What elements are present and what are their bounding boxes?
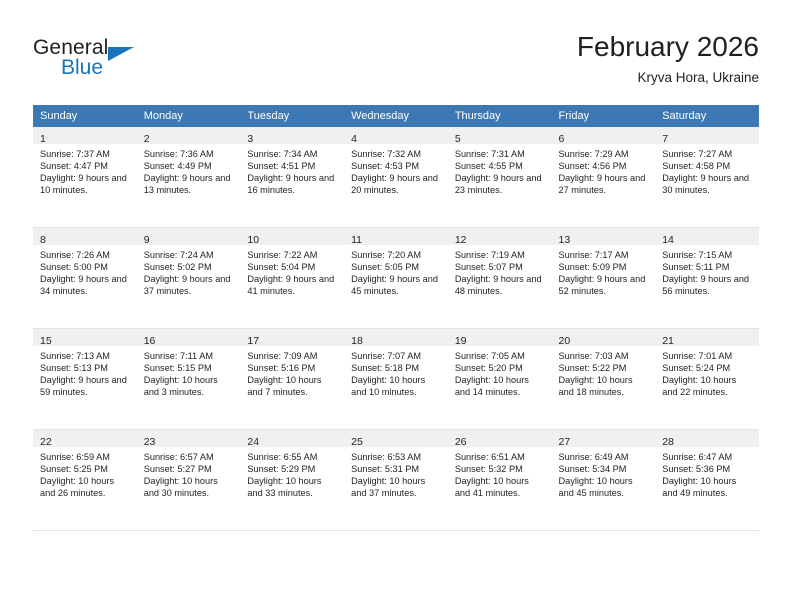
sunrise-text: Sunrise: 7:24 AM [144,249,236,261]
weekday-header-saturday: Saturday [655,105,759,127]
day-info: Sunrise: 7:37 AM Sunset: 4:47 PM Dayligh… [33,144,137,196]
day-info: Sunrise: 6:53 AM Sunset: 5:31 PM Dayligh… [344,447,448,499]
day-number-bar: 21 [655,329,759,346]
calendar-header-row: Sunday Monday Tuesday Wednesday Thursday… [33,105,759,127]
daylight-text: Daylight: 9 hours and 30 minutes. [662,172,754,196]
daylight-text: Daylight: 9 hours and 41 minutes. [247,273,339,297]
location-subtitle: Kryva Hora, Ukraine [577,68,759,88]
day-number: 20 [559,335,571,347]
daylight-text: Daylight: 9 hours and 45 minutes. [351,273,443,297]
daylight-text: Daylight: 10 hours and 22 minutes. [662,374,754,398]
day-number: 13 [559,234,571,246]
day-number: 28 [662,436,674,448]
day-number-bar: 1 [33,127,137,144]
day-info: Sunrise: 7:22 AM Sunset: 5:04 PM Dayligh… [240,245,344,297]
day-cell[interactable]: 12 Sunrise: 7:19 AM Sunset: 5:07 PM Dayl… [448,228,552,329]
day-cell[interactable]: 19 Sunrise: 7:05 AM Sunset: 5:20 PM Dayl… [448,329,552,430]
day-number-bar: 7 [655,127,759,144]
day-cell[interactable]: 15 Sunrise: 7:13 AM Sunset: 5:13 PM Dayl… [33,329,137,430]
day-number: 14 [662,234,674,246]
day-info: Sunrise: 7:26 AM Sunset: 5:00 PM Dayligh… [33,245,137,297]
sunrise-text: Sunrise: 7:27 AM [662,148,754,160]
day-number-bar: 6 [552,127,656,144]
sunrise-text: Sunrise: 7:20 AM [351,249,443,261]
daylight-text: Daylight: 9 hours and 13 minutes. [144,172,236,196]
day-number: 16 [144,335,156,347]
day-number-bar: 24 [240,430,344,447]
day-info: Sunrise: 6:51 AM Sunset: 5:32 PM Dayligh… [448,447,552,499]
sunrise-text: Sunrise: 7:13 AM [40,350,132,362]
day-number-bar: 23 [137,430,241,447]
day-number: 1 [40,133,46,145]
sunrise-text: Sunrise: 7:22 AM [247,249,339,261]
sunset-text: Sunset: 5:07 PM [455,261,547,273]
weekday-header-wednesday: Wednesday [344,105,448,127]
day-number-bar: 5 [448,127,552,144]
day-number-bar: 9 [137,228,241,245]
day-number-bar: 15 [33,329,137,346]
sunset-text: Sunset: 4:55 PM [455,160,547,172]
sunset-text: Sunset: 5:02 PM [144,261,236,273]
sunset-text: Sunset: 5:09 PM [559,261,651,273]
day-cell[interactable]: 8 Sunrise: 7:26 AM Sunset: 5:00 PM Dayli… [33,228,137,329]
calendar-week-row: 1 Sunrise: 7:37 AM Sunset: 4:47 PM Dayli… [33,127,759,228]
daylight-text: Daylight: 10 hours and 49 minutes. [662,475,754,499]
calendar-week-row: 15 Sunrise: 7:13 AM Sunset: 5:13 PM Dayl… [33,329,759,430]
day-cell[interactable]: 27 Sunrise: 6:49 AM Sunset: 5:34 PM Dayl… [552,430,656,531]
daylight-text: Daylight: 9 hours and 59 minutes. [40,374,132,398]
sunrise-text: Sunrise: 7:07 AM [351,350,443,362]
day-info: Sunrise: 7:15 AM Sunset: 5:11 PM Dayligh… [655,245,759,297]
day-number-bar: 18 [344,329,448,346]
day-number-bar: 10 [240,228,344,245]
day-number-bar: 14 [655,228,759,245]
sunset-text: Sunset: 5:36 PM [662,463,754,475]
daylight-text: Daylight: 9 hours and 48 minutes. [455,273,547,297]
sunset-text: Sunset: 5:13 PM [40,362,132,374]
day-number: 22 [40,436,52,448]
day-number-bar: 16 [137,329,241,346]
page-title: February 2026 [577,30,759,64]
day-number: 26 [455,436,467,448]
daylight-text: Daylight: 9 hours and 37 minutes. [144,273,236,297]
day-info: Sunrise: 7:27 AM Sunset: 4:58 PM Dayligh… [655,144,759,196]
day-number: 7 [662,133,668,145]
daylight-text: Daylight: 10 hours and 30 minutes. [144,475,236,499]
day-info: Sunrise: 7:31 AM Sunset: 4:55 PM Dayligh… [448,144,552,196]
logo-triangle-icon [108,47,134,61]
day-number-bar: 28 [655,430,759,447]
day-cell[interactable]: 23 Sunrise: 6:57 AM Sunset: 5:27 PM Dayl… [137,430,241,531]
sunrise-text: Sunrise: 6:49 AM [559,451,651,463]
day-number-bar: 2 [137,127,241,144]
calendar-table: Sunday Monday Tuesday Wednesday Thursday… [33,105,759,531]
sunset-text: Sunset: 5:04 PM [247,261,339,273]
day-number: 8 [40,234,46,246]
sunset-text: Sunset: 5:11 PM [662,261,754,273]
day-number: 27 [559,436,571,448]
day-cell[interactable]: 5 Sunrise: 7:31 AM Sunset: 4:55 PM Dayli… [448,127,552,228]
sunset-text: Sunset: 5:34 PM [559,463,651,475]
sunrise-text: Sunrise: 7:34 AM [247,148,339,160]
day-number: 24 [247,436,259,448]
sunrise-text: Sunrise: 6:51 AM [455,451,547,463]
day-number-bar: 12 [448,228,552,245]
day-number: 25 [351,436,363,448]
calendar-week-row: 8 Sunrise: 7:26 AM Sunset: 5:00 PM Dayli… [33,228,759,329]
sunset-text: Sunset: 5:27 PM [144,463,236,475]
weekday-header-sunday: Sunday [33,105,137,127]
day-number: 10 [247,234,259,246]
weekday-header-friday: Friday [552,105,656,127]
day-number-bar: 4 [344,127,448,144]
sunset-text: Sunset: 5:20 PM [455,362,547,374]
day-info: Sunrise: 6:47 AM Sunset: 5:36 PM Dayligh… [655,447,759,499]
day-number-bar: 19 [448,329,552,346]
sunrise-text: Sunrise: 7:31 AM [455,148,547,160]
sunrise-text: Sunrise: 6:55 AM [247,451,339,463]
sunset-text: Sunset: 5:31 PM [351,463,443,475]
generalblue-logo[interactable]: General Blue [33,36,153,88]
day-info: Sunrise: 7:05 AM Sunset: 5:20 PM Dayligh… [448,346,552,398]
daylight-text: Daylight: 9 hours and 27 minutes. [559,172,651,196]
daylight-text: Daylight: 9 hours and 16 minutes. [247,172,339,196]
sunset-text: Sunset: 4:47 PM [40,160,132,172]
sunset-text: Sunset: 4:51 PM [247,160,339,172]
day-cell[interactable]: 17 Sunrise: 7:09 AM Sunset: 5:16 PM Dayl… [240,329,344,430]
day-number: 6 [559,133,565,145]
day-cell[interactable]: 18 Sunrise: 7:07 AM Sunset: 5:18 PM Dayl… [344,329,448,430]
day-cell[interactable]: 10 Sunrise: 7:22 AM Sunset: 5:04 PM Dayl… [240,228,344,329]
calendar-week-row: 22 Sunrise: 6:59 AM Sunset: 5:25 PM Dayl… [33,430,759,531]
calendar-page: General Blue February 2026 Kryva Hora, U… [0,0,792,612]
sunrise-text: Sunrise: 7:26 AM [40,249,132,261]
day-number: 9 [144,234,150,246]
day-number: 2 [144,133,150,145]
day-info: Sunrise: 7:32 AM Sunset: 4:53 PM Dayligh… [344,144,448,196]
daylight-text: Daylight: 10 hours and 37 minutes. [351,475,443,499]
day-cell[interactable]: 16 Sunrise: 7:11 AM Sunset: 5:15 PM Dayl… [137,329,241,430]
sunset-text: Sunset: 4:53 PM [351,160,443,172]
day-info: Sunrise: 7:07 AM Sunset: 5:18 PM Dayligh… [344,346,448,398]
day-number: 15 [40,335,52,347]
daylight-text: Daylight: 9 hours and 34 minutes. [40,273,132,297]
day-number: 11 [351,234,362,246]
day-number-bar: 13 [552,228,656,245]
day-cell[interactable]: 6 Sunrise: 7:29 AM Sunset: 4:56 PM Dayli… [552,127,656,228]
sunrise-text: Sunrise: 7:11 AM [144,350,236,362]
sunset-text: Sunset: 5:25 PM [40,463,132,475]
sunset-text: Sunset: 5:00 PM [40,261,132,273]
sunset-text: Sunset: 5:29 PM [247,463,339,475]
daylight-text: Daylight: 10 hours and 41 minutes. [455,475,547,499]
sunrise-text: Sunrise: 7:03 AM [559,350,651,362]
day-number: 5 [455,133,461,145]
day-number: 3 [247,133,253,145]
daylight-text: Daylight: 9 hours and 10 minutes. [40,172,132,196]
day-cell[interactable]: 3 Sunrise: 7:34 AM Sunset: 4:51 PM Dayli… [240,127,344,228]
weekday-header-tuesday: Tuesday [240,105,344,127]
sunset-text: Sunset: 5:05 PM [351,261,443,273]
day-info: Sunrise: 7:19 AM Sunset: 5:07 PM Dayligh… [448,245,552,297]
day-cell[interactable]: 9 Sunrise: 7:24 AM Sunset: 5:02 PM Dayli… [137,228,241,329]
day-cell[interactable]: 28 Sunrise: 6:47 AM Sunset: 5:36 PM Dayl… [655,430,759,531]
day-info: Sunrise: 7:13 AM Sunset: 5:13 PM Dayligh… [33,346,137,398]
sunrise-text: Sunrise: 7:05 AM [455,350,547,362]
daylight-text: Daylight: 10 hours and 10 minutes. [351,374,443,398]
day-info: Sunrise: 7:20 AM Sunset: 5:05 PM Dayligh… [344,245,448,297]
day-cell[interactable]: 4 Sunrise: 7:32 AM Sunset: 4:53 PM Dayli… [344,127,448,228]
daylight-text: Daylight: 9 hours and 20 minutes. [351,172,443,196]
day-cell[interactable]: 20 Sunrise: 7:03 AM Sunset: 5:22 PM Dayl… [552,329,656,430]
sunset-text: Sunset: 4:58 PM [662,160,754,172]
day-number-bar: 27 [552,430,656,447]
daylight-text: Daylight: 9 hours and 52 minutes. [559,273,651,297]
sunrise-text: Sunrise: 7:32 AM [351,148,443,160]
day-info: Sunrise: 6:49 AM Sunset: 5:34 PM Dayligh… [552,447,656,499]
day-cell[interactable]: 14 Sunrise: 7:15 AM Sunset: 5:11 PM Dayl… [655,228,759,329]
day-number: 21 [662,335,674,347]
daylight-text: Daylight: 9 hours and 23 minutes. [455,172,547,196]
day-cell[interactable]: 11 Sunrise: 7:20 AM Sunset: 5:05 PM Dayl… [344,228,448,329]
day-cell[interactable]: 22 Sunrise: 6:59 AM Sunset: 5:25 PM Dayl… [33,430,137,531]
sunset-text: Sunset: 5:15 PM [144,362,236,374]
day-number: 17 [247,335,259,347]
sunrise-text: Sunrise: 6:57 AM [144,451,236,463]
sunrise-text: Sunrise: 6:47 AM [662,451,754,463]
day-number-bar: 26 [448,430,552,447]
sunrise-text: Sunrise: 7:19 AM [455,249,547,261]
calendar-body: 1 Sunrise: 7:37 AM Sunset: 4:47 PM Dayli… [33,127,759,531]
day-info: Sunrise: 7:36 AM Sunset: 4:49 PM Dayligh… [137,144,241,196]
day-number-bar: 3 [240,127,344,144]
day-cell[interactable]: 7 Sunrise: 7:27 AM Sunset: 4:58 PM Dayli… [655,127,759,228]
weekday-header-monday: Monday [137,105,241,127]
title-block: February 2026 Kryva Hora, Ukraine [577,30,759,88]
day-info: Sunrise: 6:55 AM Sunset: 5:29 PM Dayligh… [240,447,344,499]
sunrise-text: Sunrise: 7:37 AM [40,148,132,160]
sunset-text: Sunset: 5:22 PM [559,362,651,374]
day-info: Sunrise: 6:59 AM Sunset: 5:25 PM Dayligh… [33,447,137,499]
day-info: Sunrise: 7:03 AM Sunset: 5:22 PM Dayligh… [552,346,656,398]
day-number: 19 [455,335,467,347]
daylight-text: Daylight: 10 hours and 3 minutes. [144,374,236,398]
day-cell[interactable]: 25 Sunrise: 6:53 AM Sunset: 5:31 PM Dayl… [344,430,448,531]
day-number: 23 [144,436,156,448]
page-header: General Blue February 2026 Kryva Hora, U… [33,30,759,96]
sunrise-text: Sunrise: 6:59 AM [40,451,132,463]
day-number-bar: 8 [33,228,137,245]
daylight-text: Daylight: 10 hours and 14 minutes. [455,374,547,398]
day-info: Sunrise: 7:01 AM Sunset: 5:24 PM Dayligh… [655,346,759,398]
day-number: 12 [455,234,467,246]
sunrise-text: Sunrise: 7:29 AM [559,148,651,160]
day-info: Sunrise: 7:29 AM Sunset: 4:56 PM Dayligh… [552,144,656,196]
day-number-bar: 25 [344,430,448,447]
day-cell[interactable]: 13 Sunrise: 7:17 AM Sunset: 5:09 PM Dayl… [552,228,656,329]
day-cell[interactable]: 2 Sunrise: 7:36 AM Sunset: 4:49 PM Dayli… [137,127,241,228]
sunrise-text: Sunrise: 7:01 AM [662,350,754,362]
day-cell[interactable]: 24 Sunrise: 6:55 AM Sunset: 5:29 PM Dayl… [240,430,344,531]
day-cell[interactable]: 21 Sunrise: 7:01 AM Sunset: 5:24 PM Dayl… [655,329,759,430]
daylight-text: Daylight: 10 hours and 26 minutes. [40,475,132,499]
sunset-text: Sunset: 5:24 PM [662,362,754,374]
day-number-bar: 20 [552,329,656,346]
sunrise-text: Sunrise: 6:53 AM [351,451,443,463]
daylight-text: Daylight: 10 hours and 45 minutes. [559,475,651,499]
day-number: 18 [351,335,363,347]
day-info: Sunrise: 7:24 AM Sunset: 5:02 PM Dayligh… [137,245,241,297]
daylight-text: Daylight: 10 hours and 33 minutes. [247,475,339,499]
day-cell[interactable]: 26 Sunrise: 6:51 AM Sunset: 5:32 PM Dayl… [448,430,552,531]
sunset-text: Sunset: 4:56 PM [559,160,651,172]
day-info: Sunrise: 7:09 AM Sunset: 5:16 PM Dayligh… [240,346,344,398]
sunrise-text: Sunrise: 7:15 AM [662,249,754,261]
day-number-bar: 17 [240,329,344,346]
day-info: Sunrise: 7:34 AM Sunset: 4:51 PM Dayligh… [240,144,344,196]
day-info: Sunrise: 7:17 AM Sunset: 5:09 PM Dayligh… [552,245,656,297]
daylight-text: Daylight: 10 hours and 18 minutes. [559,374,651,398]
sunrise-text: Sunrise: 7:17 AM [559,249,651,261]
sunrise-text: Sunrise: 7:36 AM [144,148,236,160]
day-number-bar: 11 [344,228,448,245]
sunrise-text: Sunrise: 7:09 AM [247,350,339,362]
sunset-text: Sunset: 5:16 PM [247,362,339,374]
day-number-bar: 22 [33,430,137,447]
sunset-text: Sunset: 4:49 PM [144,160,236,172]
daylight-text: Daylight: 10 hours and 7 minutes. [247,374,339,398]
day-info: Sunrise: 7:11 AM Sunset: 5:15 PM Dayligh… [137,346,241,398]
day-info: Sunrise: 6:57 AM Sunset: 5:27 PM Dayligh… [137,447,241,499]
sunset-text: Sunset: 5:18 PM [351,362,443,374]
daylight-text: Daylight: 9 hours and 56 minutes. [662,273,754,297]
weekday-header-thursday: Thursday [448,105,552,127]
day-cell[interactable]: 1 Sunrise: 7:37 AM Sunset: 4:47 PM Dayli… [33,127,137,228]
logo-text-blue: Blue [61,56,103,80]
sunset-text: Sunset: 5:32 PM [455,463,547,475]
day-number: 4 [351,133,357,145]
